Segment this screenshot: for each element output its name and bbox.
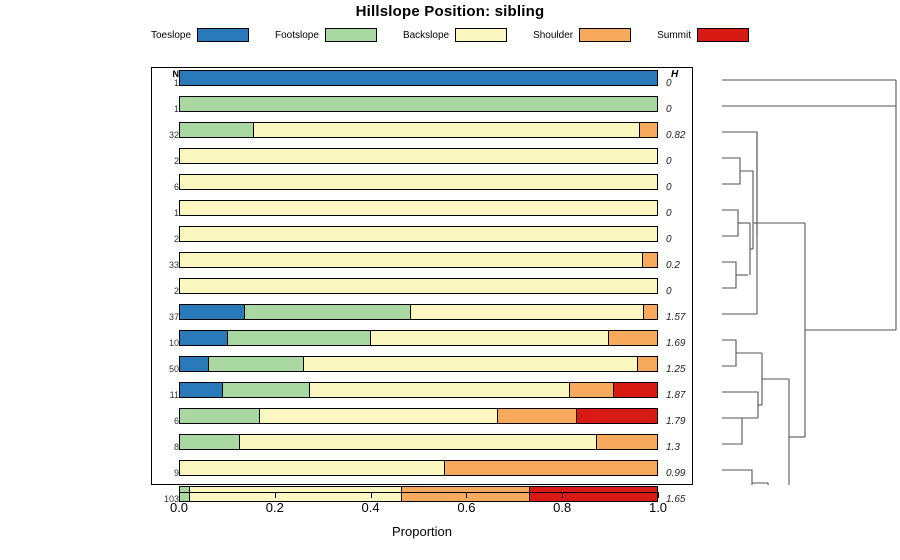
chart-row: PARKALLEY330.2: [151, 249, 693, 275]
bar-segment-backslope[interactable]: [180, 227, 657, 241]
bar-segment-shoulder[interactable]: [445, 461, 657, 475]
chart-row: TEPETE10: [151, 67, 693, 93]
bar-segment-shoulder[interactable]: [570, 383, 613, 397]
bar-segment-backslope[interactable]: [180, 201, 657, 215]
chart-row: SPARKY10: [151, 197, 693, 223]
x-axis-tick: [658, 492, 659, 498]
row-diversity-h: 1.65: [666, 494, 706, 505]
bar-segment-toeslope[interactable]: [180, 71, 657, 85]
stacked-bar[interactable]: [179, 122, 658, 138]
stacked-bar[interactable]: [179, 382, 658, 398]
x-axis-line: [179, 492, 658, 493]
row-count-n: 8: [151, 442, 179, 452]
x-axis-tick: [466, 492, 467, 498]
chart-row: DONKEHILL20: [151, 275, 693, 301]
row-count-n: 2: [151, 286, 179, 296]
x-axis-tick-label: 0.2: [266, 500, 284, 515]
x-axis-tick-label: 0.6: [457, 500, 475, 515]
bar-segment-shoulder[interactable]: [644, 305, 657, 319]
row-count-n: 2: [151, 156, 179, 166]
legend-item: Summit: [657, 28, 749, 42]
bar-segment-footslope[interactable]: [180, 97, 657, 111]
legend-label: Footslope: [275, 30, 319, 41]
bar-segment-backslope[interactable]: [240, 435, 598, 449]
bar-segment-backslope[interactable]: [260, 409, 499, 423]
stacked-bar[interactable]: [179, 356, 658, 372]
bar-segment-backslope[interactable]: [254, 123, 640, 137]
bar-segment-footslope[interactable]: [180, 409, 260, 423]
chart-root: Hillslope Position: sibling ToeslopeFoot…: [0, 0, 900, 560]
bar-segment-summit[interactable]: [577, 409, 657, 423]
chart-row: SHAKESPEARE90.99: [151, 457, 693, 483]
bar-segment-footslope[interactable]: [223, 383, 310, 397]
bar-segment-footslope[interactable]: [245, 305, 411, 319]
row-count-n: 1: [151, 104, 179, 114]
bar-segment-toeslope[interactable]: [180, 383, 223, 397]
row-count-n: 2: [151, 234, 179, 244]
x-axis-title: Proportion: [151, 524, 693, 539]
stacked-bar[interactable]: [179, 278, 658, 294]
bar-segment-backslope[interactable]: [304, 357, 638, 371]
chart-row: EDIEBENCH60: [151, 171, 693, 197]
stacked-bar[interactable]: [179, 330, 658, 346]
legend-item: Backslope: [403, 28, 507, 42]
stacked-bar[interactable]: [179, 226, 658, 242]
bar-segment-footslope[interactable]: [180, 435, 240, 449]
row-count-n: 37: [151, 312, 179, 322]
bar-segment-backslope[interactable]: [180, 149, 657, 163]
stacked-bar[interactable]: [179, 70, 658, 86]
row-count-n: 50: [151, 364, 179, 374]
chart-row: DRANBURN371.57: [151, 301, 693, 327]
stacked-bar[interactable]: [179, 460, 658, 476]
chart-row: LATIGO20: [151, 145, 693, 171]
legend-swatch: [197, 28, 249, 42]
chart-row: HOWCAN10: [151, 93, 693, 119]
x-axis-tick-label: 0.0: [170, 500, 188, 515]
legend-label: Shoulder: [533, 30, 573, 41]
bar-segment-shoulder[interactable]: [597, 435, 657, 449]
bar-segment-shoulder[interactable]: [640, 123, 657, 137]
chart-row: HUTCHLEY1031.65: [151, 483, 693, 509]
legend-swatch: [455, 28, 507, 42]
chart-row: DACONT20: [151, 223, 693, 249]
bar-segment-backslope[interactable]: [180, 253, 643, 267]
row-count-n: 10: [151, 338, 179, 348]
bar-segment-toeslope[interactable]: [180, 331, 228, 345]
row-count-n: 33: [151, 260, 179, 270]
x-axis-tick: [275, 492, 276, 498]
row-count-n: 1: [151, 208, 179, 218]
bar-segment-backslope[interactable]: [310, 383, 570, 397]
stacked-bar[interactable]: [179, 252, 658, 268]
chart-row: ZEEBAR320.82: [151, 119, 693, 145]
bar-segment-shoulder[interactable]: [498, 409, 577, 423]
bar-segment-backslope[interactable]: [180, 461, 445, 475]
bar-segment-footslope[interactable]: [228, 331, 371, 345]
bar-segment-shoulder[interactable]: [638, 357, 657, 371]
bar-segment-summit[interactable]: [614, 383, 657, 397]
bar-segment-shoulder[interactable]: [609, 331, 657, 345]
x-axis-tick-label: 1.0: [649, 500, 667, 515]
bar-segment-toeslope[interactable]: [180, 357, 209, 371]
x-axis-tick: [562, 492, 563, 498]
legend-swatch: [325, 28, 377, 42]
row-count-n: 1: [151, 78, 179, 88]
legend-label: Backslope: [403, 30, 449, 41]
x-axis: 0.00.20.40.60.81.0: [151, 492, 693, 495]
legend-item: Shoulder: [533, 28, 631, 42]
x-axis-tick-label: 0.8: [553, 500, 571, 515]
stacked-bar[interactable]: [179, 200, 658, 216]
bar-segment-shoulder[interactable]: [643, 253, 657, 267]
legend-item: Toeslope: [151, 28, 249, 42]
bar-segment-toeslope[interactable]: [180, 305, 245, 319]
stacked-bar[interactable]: [179, 96, 658, 112]
legend-label: Summit: [657, 30, 691, 41]
bar-segment-footslope[interactable]: [209, 357, 304, 371]
bar-segment-backslope[interactable]: [180, 279, 657, 293]
bar-segment-backslope[interactable]: [180, 175, 657, 189]
legend-swatch: [579, 28, 631, 42]
row-count-n: 32: [151, 130, 179, 140]
stacked-bar[interactable]: [179, 174, 658, 190]
stacked-bar-rows: TEPETE10HOWCAN10ZEEBAR320.82LATIGO20EDIE…: [151, 67, 693, 485]
row-count-n: 9: [151, 468, 179, 478]
x-axis-tick: [179, 492, 180, 498]
row-count-n: 6: [151, 182, 179, 192]
chart-row: HAGENBARTH501.25: [151, 353, 693, 379]
chart-row: MONIDA111.87: [151, 379, 693, 405]
stacked-bar[interactable]: [179, 304, 658, 320]
stacked-bar[interactable]: [179, 434, 658, 450]
chart-row: BOONEVILLE81.3: [151, 431, 693, 457]
chart-title: Hillslope Position: sibling: [0, 3, 900, 20]
bar-segment-backslope[interactable]: [411, 305, 644, 319]
legend-swatch: [697, 28, 749, 42]
row-count-n: 11: [151, 390, 179, 400]
chart-row: NIELSEN61.79: [151, 405, 693, 431]
dendrogram: [700, 67, 898, 485]
legend: ToeslopeFootslopeBackslopeShoulderSummit: [0, 26, 900, 44]
bar-segment-backslope[interactable]: [371, 331, 610, 345]
legend-item: Footslope: [275, 28, 377, 42]
stacked-bar[interactable]: [179, 408, 658, 424]
chart-row: PARKAY101.69: [151, 327, 693, 353]
stacked-bar[interactable]: [179, 148, 658, 164]
row-count-n: 6: [151, 416, 179, 426]
x-axis-tick-label: 0.4: [362, 500, 380, 515]
x-axis-tick: [371, 492, 372, 498]
bar-segment-footslope[interactable]: [180, 123, 254, 137]
legend-label: Toeslope: [151, 30, 191, 41]
dendrogram-svg: [700, 67, 898, 485]
